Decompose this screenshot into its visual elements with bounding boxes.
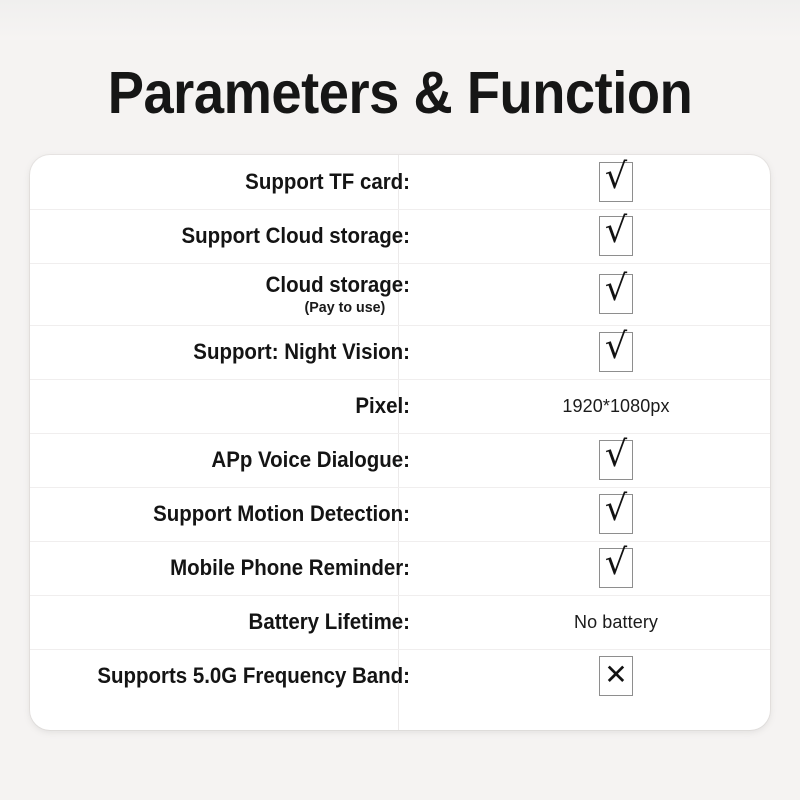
spec-label: Support Cloud storage: [68,223,410,249]
specifications-card: Support TF card:√Support Cloud storage:√… [30,155,770,730]
spec-value-cell: √ [430,155,770,209]
spec-value-text: No battery [574,612,658,632]
spec-value-cell: 1920*1080px [430,379,770,433]
spec-value-cell: No battery [430,595,770,649]
spec-label: Pixel: [68,393,410,419]
checkmark-icon: √ [599,162,633,202]
spec-value-cell: √ [430,541,770,595]
table-row: Support Cloud storage:√ [30,209,770,263]
specifications-table: Support TF card:√Support Cloud storage:√… [30,155,770,703]
checkmark-icon: √ [599,440,633,480]
checkmark-icon: √ [599,494,633,534]
table-row: Support Motion Detection:√ [30,487,770,541]
spec-value-cell: √ [430,263,770,325]
spec-value-cell: √ [430,325,770,379]
table-row: Mobile Phone Reminder:√ [30,541,770,595]
spec-label-cell: APp Voice Dialogue: [30,433,430,487]
table-row: Pixel:1920*1080px [30,379,770,433]
checkmark-glyph: √ [600,540,632,586]
spec-label-cell: Mobile Phone Reminder: [30,541,430,595]
spec-label-cell: Support Motion Detection: [30,487,430,541]
checkmark-glyph: √ [600,432,632,478]
table-row: Support TF card:√ [30,155,770,209]
spec-value-cell: ✕ [430,649,770,703]
spec-value-cell: √ [430,487,770,541]
cross-glyph: ✕ [600,656,632,694]
spec-label: Battery Lifetime: [68,609,410,635]
checkmark-glyph: √ [600,155,632,200]
checkmark-glyph: √ [600,208,632,254]
page-title: Parameters & Function [32,58,768,128]
spec-label-cell: Support Cloud storage: [30,209,430,263]
table-row: APp Voice Dialogue:√ [30,433,770,487]
spec-label: Support Motion Detection: [68,501,410,527]
spec-label: Cloud storage: [68,272,410,298]
checkmark-icon: √ [599,548,633,588]
page-top-sheen [0,0,800,40]
table-row: Cloud storage:(Pay to use)√ [30,263,770,325]
spec-sublabel: (Pay to use) [60,299,410,316]
spec-label-cell: Battery Lifetime: [30,595,430,649]
spec-label-cell: Support TF card: [30,155,430,209]
checkmark-icon: √ [599,274,633,314]
checkmark-icon: √ [599,216,633,256]
table-row: Support: Night Vision:√ [30,325,770,379]
spec-label: Mobile Phone Reminder: [68,555,410,581]
spec-label-cell: Support: Night Vision: [30,325,430,379]
checkmark-icon: √ [599,332,633,372]
checkmark-glyph: √ [600,486,632,532]
spec-value-cell: √ [430,209,770,263]
spec-label: Support: Night Vision: [68,339,410,365]
table-row: Supports 5.0G Frequency Band:✕ [30,649,770,703]
cross-icon: ✕ [599,656,633,696]
spec-label-cell: Supports 5.0G Frequency Band: [30,649,430,703]
spec-label: APp Voice Dialogue: [68,447,410,473]
spec-label: Support TF card: [68,169,410,195]
spec-label: Supports 5.0G Frequency Band: [68,663,410,689]
spec-value-cell: √ [430,433,770,487]
spec-value-text: 1920*1080px [562,396,669,416]
spec-label-cell: Cloud storage:(Pay to use) [30,263,430,325]
table-row: Battery Lifetime:No battery [30,595,770,649]
checkmark-glyph: √ [600,324,632,370]
spec-label-cell: Pixel: [30,379,430,433]
checkmark-glyph: √ [600,266,632,312]
